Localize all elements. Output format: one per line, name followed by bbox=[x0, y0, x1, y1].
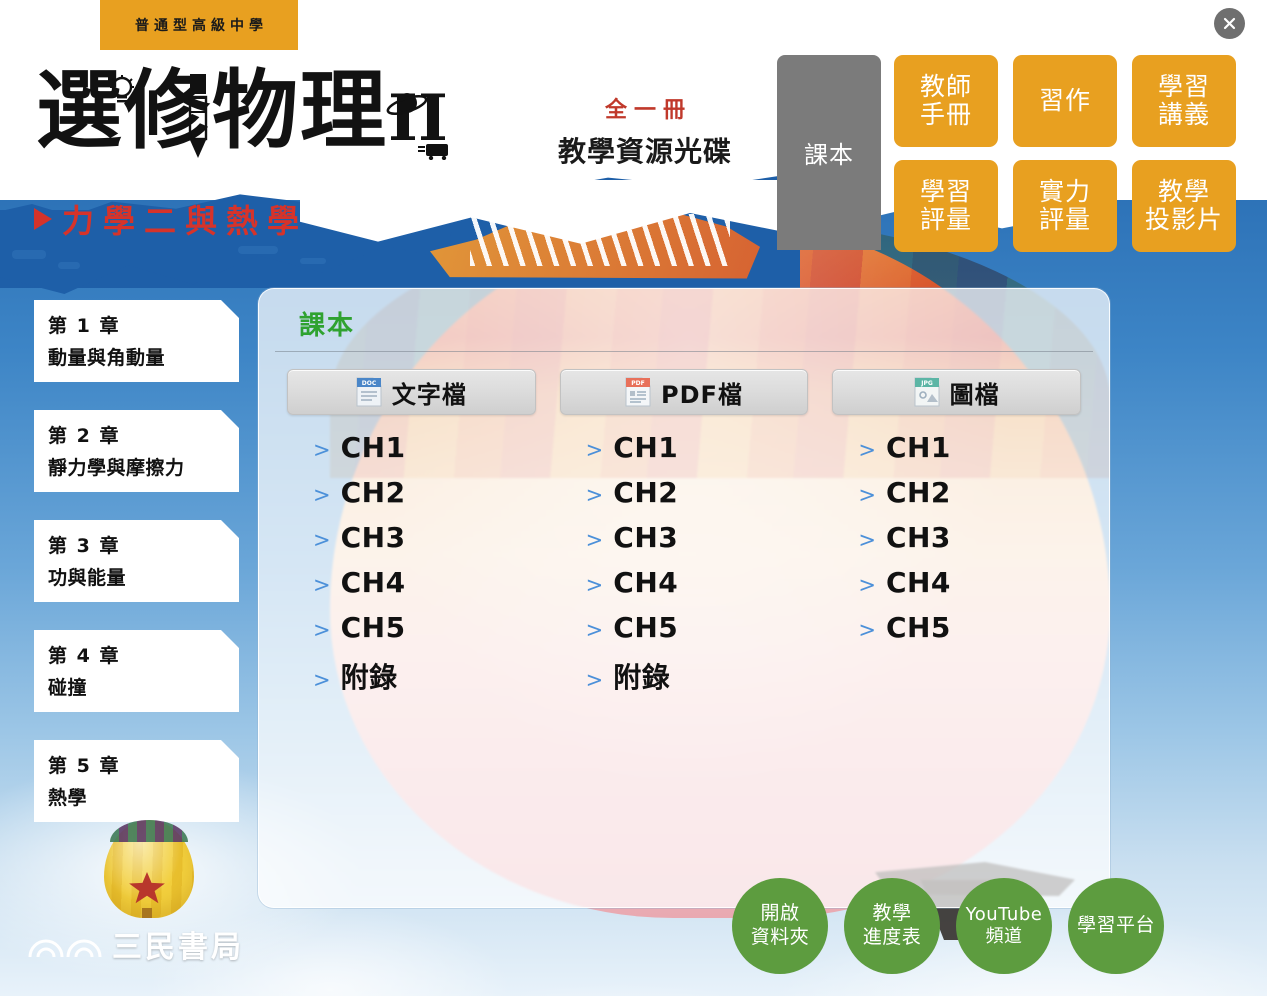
column-header-label: 圖檔 bbox=[950, 375, 1000, 410]
file-link-doc-appendix[interactable]: > 附錄 bbox=[313, 656, 536, 689]
nav-button-study-assessment[interactable]: 學習 評量 bbox=[894, 160, 998, 252]
file-link-label: 附錄 bbox=[341, 656, 398, 696]
chapter-number: 第 4 章 bbox=[48, 641, 239, 668]
file-list-doc: > CH1 > CH2 > CH3 > CH4 bbox=[287, 431, 536, 689]
file-link-pdf-ch4[interactable]: > CH4 bbox=[586, 566, 809, 599]
file-link-label: CH1 bbox=[341, 431, 406, 464]
file-link-label: CH4 bbox=[613, 566, 678, 599]
nav-label-line1: 習作 bbox=[1039, 87, 1091, 115]
chevron-right-icon: > bbox=[313, 575, 331, 596]
brush-fleck-3 bbox=[238, 246, 278, 254]
chevron-right-icon: > bbox=[586, 440, 604, 461]
nav-label-line1: 實力 bbox=[1039, 178, 1091, 206]
books-icon bbox=[418, 138, 454, 160]
file-link-label: CH3 bbox=[886, 521, 951, 554]
file-link-label: CH3 bbox=[613, 521, 678, 554]
sidebar-item-chapter-5[interactable]: 第 5 章 熱學 bbox=[34, 740, 239, 822]
chevron-right-icon: > bbox=[858, 620, 876, 641]
brush-fleck-1 bbox=[12, 250, 46, 259]
sidebar-item-chapter-4[interactable]: 第 4 章 碰撞 bbox=[34, 630, 239, 712]
file-link-label: CH3 bbox=[341, 521, 406, 554]
file-link-label: CH2 bbox=[341, 476, 406, 509]
panel-title: 課本 bbox=[299, 305, 355, 342]
action-label-line1: 教學 bbox=[872, 902, 911, 926]
resource-nav-grid: 教師 手冊 習作 學習 講義 學習 評量 實力 評量 教學 投影片 bbox=[894, 55, 1236, 252]
file-list-pdf: > CH1 > CH2 > CH3 > CH4 bbox=[560, 431, 809, 689]
column-header-pdf[interactable]: PDF PDF檔 bbox=[560, 369, 809, 415]
chevron-right-icon: > bbox=[313, 620, 331, 641]
chevron-right-icon: > bbox=[586, 530, 604, 551]
planet-icon bbox=[385, 88, 429, 122]
nav-button-workbook[interactable]: 習作 bbox=[1013, 55, 1117, 147]
chevron-right-icon: > bbox=[313, 530, 331, 551]
action-youtube-channel[interactable]: YouTube 頻道 bbox=[956, 878, 1052, 974]
chevron-right-icon: > bbox=[313, 670, 331, 691]
file-column-pdf: PDF PDF檔 > CH1 > CH2 bbox=[560, 369, 809, 701]
close-icon bbox=[1222, 16, 1237, 31]
lightbulb-icon bbox=[105, 74, 139, 108]
column-header-label: PDF檔 bbox=[661, 375, 743, 410]
action-open-folder[interactable]: 開啟 資料夾 bbox=[732, 878, 828, 974]
nav-label-line1: 教學 bbox=[1158, 178, 1210, 206]
file-link-doc-ch3[interactable]: > CH3 bbox=[313, 521, 536, 554]
file-column-image: JPG 圖檔 > CH1 > CH2 > bbox=[832, 369, 1081, 701]
chevron-right-icon: > bbox=[313, 440, 331, 461]
action-label-line1: YouTube bbox=[966, 904, 1043, 927]
file-link-pdf-ch2[interactable]: > CH2 bbox=[586, 476, 809, 509]
edition-volume-label: 全一冊 bbox=[540, 92, 750, 124]
publisher-wave-icon bbox=[28, 925, 110, 959]
action-label-line1: 學習平台 bbox=[1077, 914, 1155, 938]
nav-button-study-handout[interactable]: 學習 講義 bbox=[1132, 55, 1236, 147]
file-link-label: CH5 bbox=[886, 611, 951, 644]
sidebar-item-chapter-3[interactable]: 第 3 章 功與能量 bbox=[34, 520, 239, 602]
panel-divider bbox=[275, 351, 1093, 352]
chapter-title: 碰撞 bbox=[48, 673, 239, 700]
file-link-label: CH5 bbox=[613, 611, 678, 644]
nav-label-line2: 講義 bbox=[1158, 101, 1210, 129]
chevron-right-icon: > bbox=[858, 440, 876, 461]
file-columns: DOC 文字檔 > CH1 > CH2 > bbox=[287, 369, 1081, 701]
nav-label-line2: 手冊 bbox=[920, 101, 972, 129]
chevron-right-icon: > bbox=[313, 485, 331, 506]
file-link-pdf-ch3[interactable]: > CH3 bbox=[586, 521, 809, 554]
nav-label-line1: 教師 bbox=[920, 73, 972, 101]
file-link-image-ch2[interactable]: > CH2 bbox=[858, 476, 1081, 509]
file-link-label: CH1 bbox=[613, 431, 678, 464]
chevron-right-icon: > bbox=[586, 575, 604, 596]
nav-button-teacher-manual[interactable]: 教師 手冊 bbox=[894, 55, 998, 147]
close-button[interactable] bbox=[1214, 8, 1245, 39]
file-list-image: > CH1 > CH2 > CH3 > CH4 bbox=[832, 431, 1081, 644]
nav-label-line2: 評量 bbox=[920, 206, 972, 234]
file-link-image-ch5[interactable]: > CH5 bbox=[858, 611, 1081, 644]
file-link-label: CH1 bbox=[886, 431, 951, 464]
nav-label-line2: 評量 bbox=[1039, 206, 1091, 234]
file-link-doc-ch5[interactable]: > CH5 bbox=[313, 611, 536, 644]
chevron-right-icon: > bbox=[586, 670, 604, 691]
column-header-doc[interactable]: DOC 文字檔 bbox=[287, 369, 536, 415]
school-type-badge: 普通型高級中學 bbox=[100, 0, 298, 50]
chapter-number: 第 5 章 bbox=[48, 751, 239, 778]
chapter-sidebar: 第 1 章 動量與角動量 第 2 章 靜力學與摩擦力 第 3 章 功與能量 第 … bbox=[34, 300, 239, 822]
svg-text:DOC: DOC bbox=[362, 380, 377, 387]
file-link-label: 附錄 bbox=[613, 656, 670, 696]
file-link-label: CH4 bbox=[886, 566, 951, 599]
sidebar-item-chapter-2[interactable]: 第 2 章 靜力學與摩擦力 bbox=[34, 410, 239, 492]
app-window: 普通型高級中學 選修物理II 力學二與熱學 全一冊 教學資源光 bbox=[0, 0, 1267, 996]
column-header-label: 文字檔 bbox=[392, 375, 467, 410]
file-link-pdf-ch1[interactable]: > CH1 bbox=[586, 431, 809, 464]
file-link-doc-ch1[interactable]: > CH1 bbox=[313, 431, 536, 464]
triangle-bullet-icon bbox=[34, 208, 52, 230]
action-teaching-schedule[interactable]: 教學 進度表 bbox=[844, 878, 940, 974]
action-circle-row: 開啟 資料夾 教學 進度表 YouTube 頻道 學習平台 bbox=[732, 878, 1164, 974]
file-link-pdf-appendix[interactable]: > 附錄 bbox=[586, 656, 809, 689]
nav-label-line2: 投影片 bbox=[1145, 206, 1223, 234]
file-link-doc-ch4[interactable]: > CH4 bbox=[313, 566, 536, 599]
file-link-image-ch4[interactable]: > CH4 bbox=[858, 566, 1081, 599]
sidebar-item-chapter-1[interactable]: 第 1 章 動量與角動量 bbox=[34, 300, 239, 382]
file-link-label: CH5 bbox=[341, 611, 406, 644]
svg-text:PDF: PDF bbox=[631, 380, 644, 387]
file-column-doc: DOC 文字檔 > CH1 > CH2 > bbox=[287, 369, 536, 701]
subject-heading: 力學二與熱學 bbox=[34, 196, 308, 242]
file-link-image-ch1[interactable]: > CH1 bbox=[858, 431, 1081, 464]
chevron-right-icon: > bbox=[858, 485, 876, 506]
chapter-number: 第 1 章 bbox=[48, 311, 239, 338]
nav-button-ability-assessment[interactable]: 實力 評量 bbox=[1013, 160, 1117, 252]
chevron-right-icon: > bbox=[586, 485, 604, 506]
file-link-doc-ch2[interactable]: > CH2 bbox=[313, 476, 536, 509]
chevron-right-icon: > bbox=[858, 530, 876, 551]
file-link-pdf-ch5[interactable]: > CH5 bbox=[586, 611, 809, 644]
chevron-right-icon: > bbox=[586, 620, 604, 641]
edition-block: 全一冊 教學資源光碟 bbox=[540, 92, 750, 170]
action-learning-platform[interactable]: 學習平台 bbox=[1068, 878, 1164, 974]
page-title-text: 選修物理 bbox=[36, 60, 388, 161]
brush-fleck-2 bbox=[58, 262, 80, 269]
publisher-balloon-basket bbox=[142, 908, 152, 918]
tab-textbook-active[interactable]: 課本 bbox=[777, 55, 881, 250]
action-label-line2: 資料夾 bbox=[751, 926, 810, 950]
svg-text:JPG: JPG bbox=[920, 380, 933, 387]
chapter-number: 第 3 章 bbox=[48, 531, 239, 558]
file-link-label: CH4 bbox=[341, 566, 406, 599]
nav-label-line1: 學習 bbox=[920, 178, 972, 206]
chapter-number: 第 2 章 bbox=[48, 421, 239, 448]
pencil-icon bbox=[185, 74, 211, 158]
brush-fleck-4 bbox=[300, 258, 326, 264]
subject-heading-text: 力學二與熱學 bbox=[62, 196, 308, 242]
jpg-file-icon: JPG bbox=[914, 377, 940, 407]
file-link-image-ch3[interactable]: > CH3 bbox=[858, 521, 1081, 554]
edition-media-label: 教學資源光碟 bbox=[540, 130, 750, 170]
action-label-line2: 頻道 bbox=[986, 926, 1023, 949]
column-header-image[interactable]: JPG 圖檔 bbox=[832, 369, 1081, 415]
action-label-line1: 開啟 bbox=[760, 902, 799, 926]
file-link-label: CH2 bbox=[886, 476, 951, 509]
action-label-line2: 進度表 bbox=[863, 926, 922, 950]
content-panel: 課本 DOC 文字檔 > CH1 bbox=[258, 288, 1110, 908]
chapter-title: 熱學 bbox=[48, 783, 239, 810]
pdf-file-icon: PDF bbox=[625, 377, 651, 407]
chapter-title: 靜力學與摩擦力 bbox=[48, 453, 239, 480]
chapter-title: 功與能量 bbox=[48, 563, 239, 590]
doc-file-icon: DOC bbox=[356, 377, 382, 407]
nav-button-teaching-slides[interactable]: 教學 投影片 bbox=[1132, 160, 1236, 252]
file-link-label: CH2 bbox=[613, 476, 678, 509]
chevron-right-icon: > bbox=[858, 575, 876, 596]
publisher-name: 三民書局 bbox=[112, 922, 244, 966]
chapter-title: 動量與角動量 bbox=[48, 343, 239, 370]
nav-label-line1: 學習 bbox=[1158, 73, 1210, 101]
